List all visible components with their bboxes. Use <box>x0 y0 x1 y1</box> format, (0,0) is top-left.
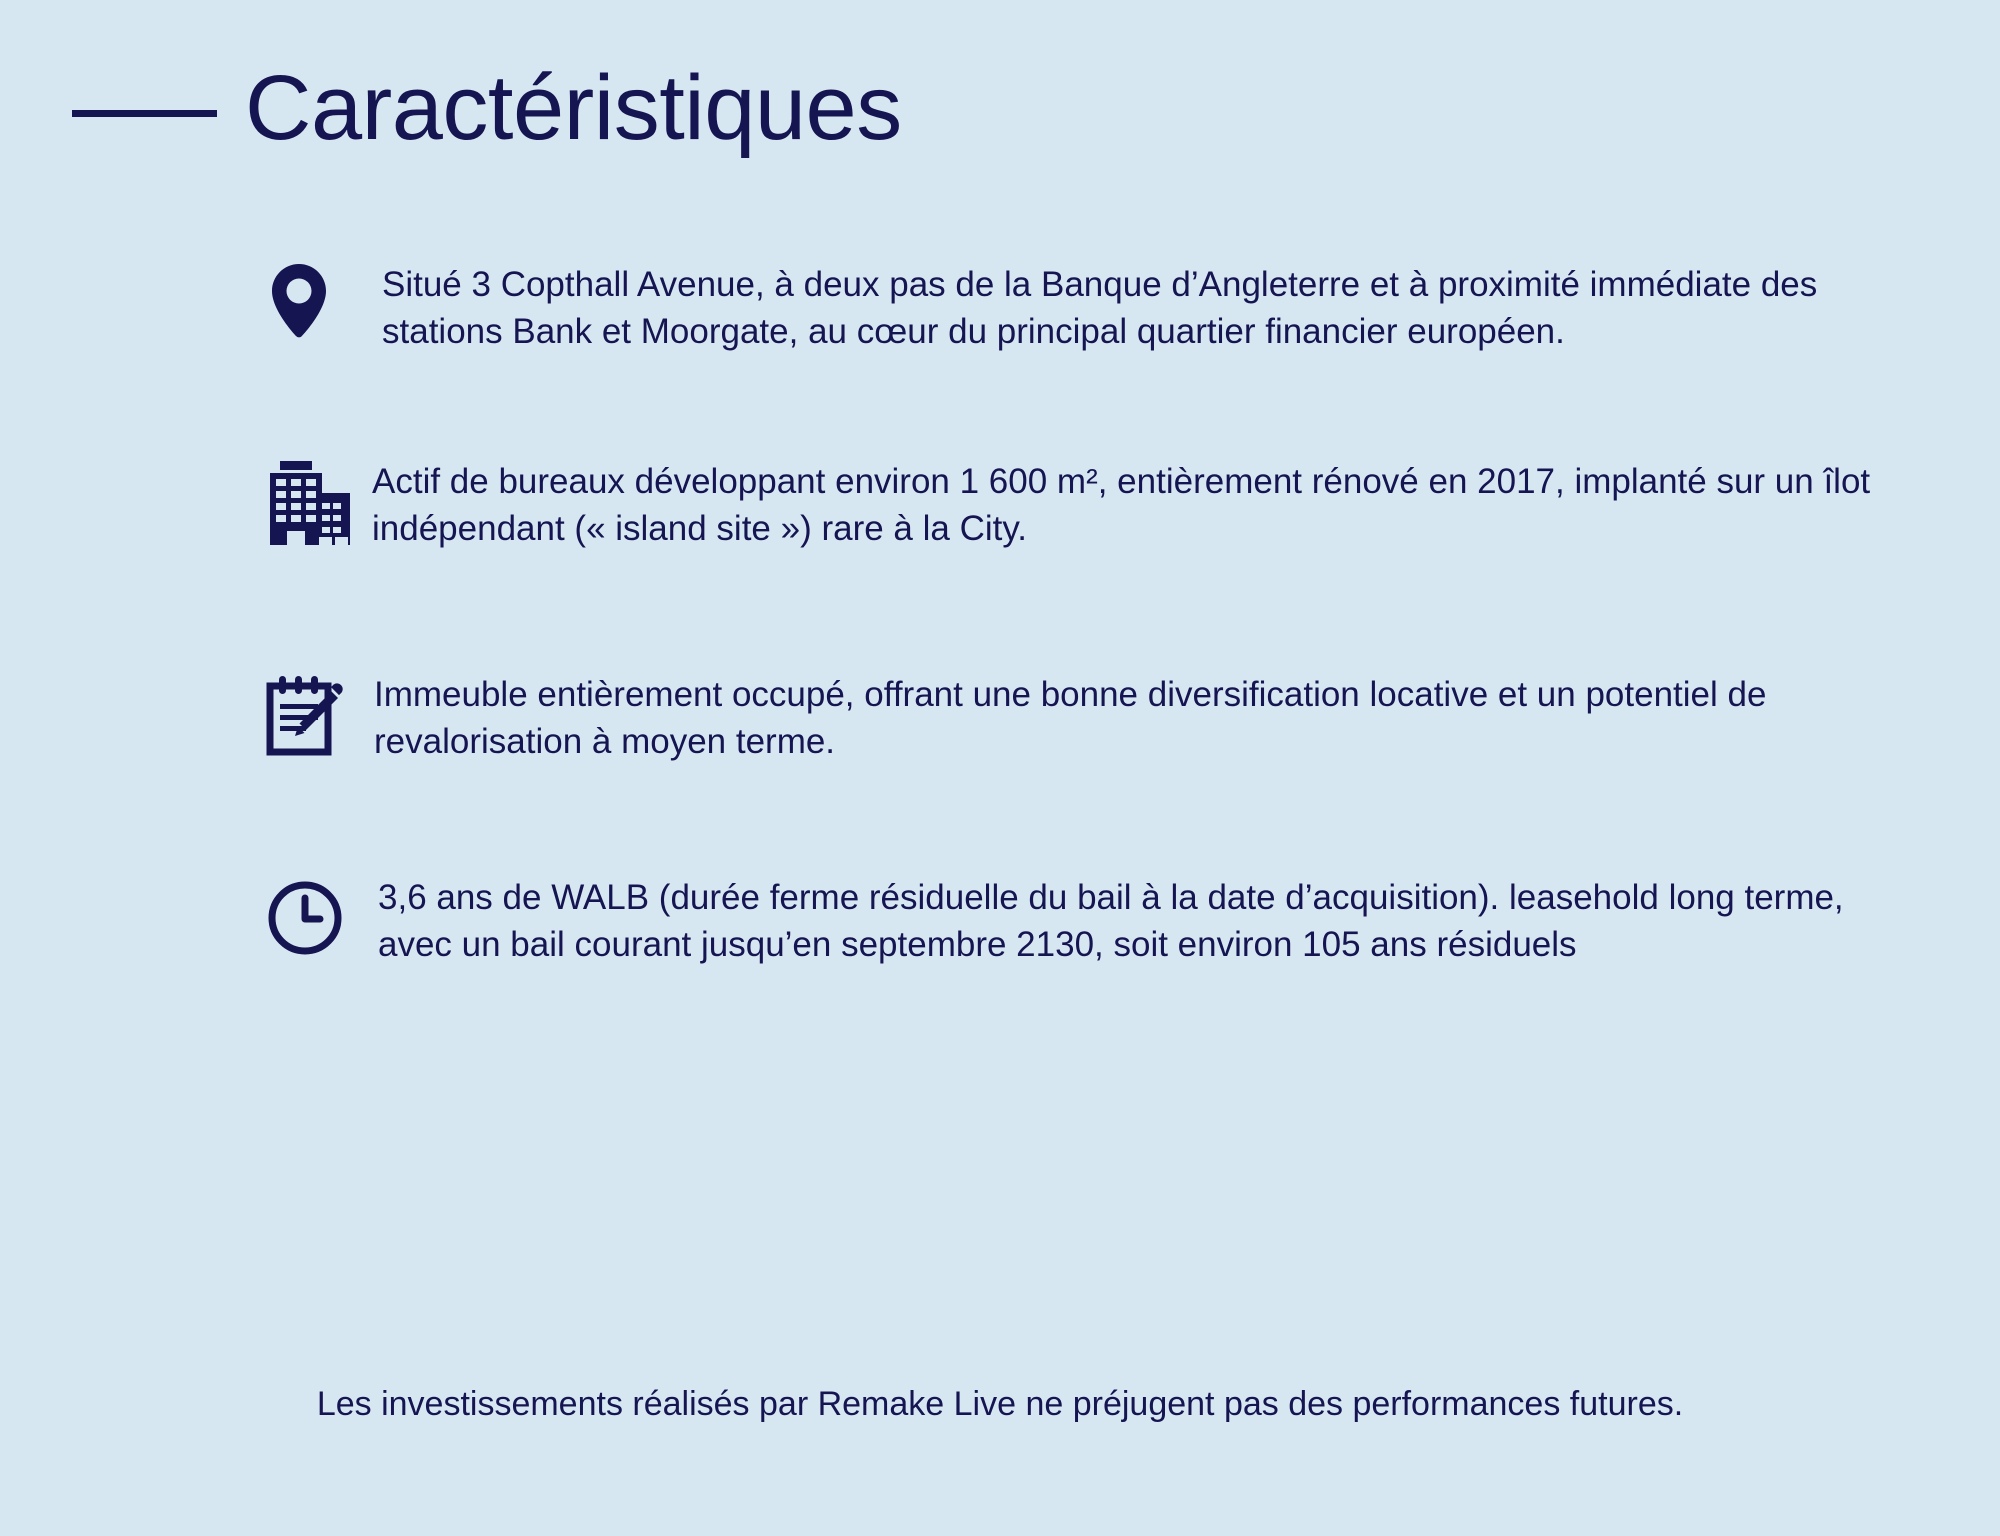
title-rule-decoration <box>72 110 217 117</box>
slide-root: Caractéristiques Situé 3 Copthall Avenue… <box>0 0 2000 1536</box>
list-item-text: Situé 3 Copthall Avenue, à deux pas de l… <box>382 262 1892 355</box>
footer-disclaimer: Les investissements réalisés par Remake … <box>0 1382 2000 1426</box>
list-item-text: Immeuble entièrement occupé, offrant une… <box>374 672 1884 765</box>
feature-list: Situé 3 Copthall Avenue, à deux pas de l… <box>258 262 1958 968</box>
office-buildings-icon <box>258 459 372 545</box>
list-item-text: 3,6 ans de WALB (durée ferme résiduelle … <box>378 875 1888 968</box>
clock-icon <box>258 875 378 955</box>
list-item: 3,6 ans de WALB (durée ferme résiduelle … <box>258 875 1958 968</box>
location-pin-icon <box>258 262 382 338</box>
notepad-pencil-icon <box>258 672 374 758</box>
list-item: Immeuble entièrement occupé, offrant une… <box>258 672 1958 765</box>
list-item: Situé 3 Copthall Avenue, à deux pas de l… <box>258 262 1958 355</box>
page-title: Caractéristiques <box>72 60 902 157</box>
list-item: Actif de bureaux développant environ 1 6… <box>258 459 1958 552</box>
list-item-text: Actif de bureaux développant environ 1 6… <box>372 459 1882 552</box>
page-title-text: Caractéristiques <box>245 60 902 157</box>
